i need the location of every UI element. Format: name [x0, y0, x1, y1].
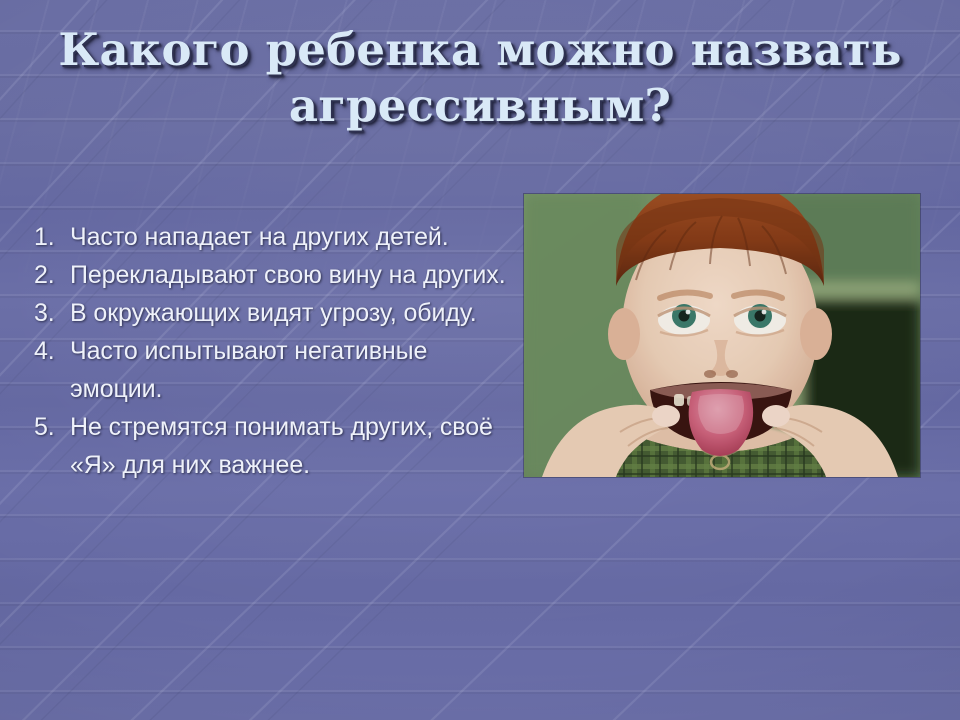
- list-item: 2. Перекладывают свою вину на других.: [30, 256, 510, 294]
- list-item: 4. Часто испытывают негативные эмоции.: [30, 332, 510, 408]
- list-item-text: В окружающих видят угрозу, обиду.: [70, 299, 477, 327]
- list-item-number: 4.: [34, 332, 64, 370]
- list-item: 5. Не стремятся понимать других, своё «Я…: [30, 408, 510, 484]
- slide-photo: [524, 194, 920, 477]
- list-item-number: 2.: [34, 256, 64, 294]
- list-item-text: Часто испытывают негативные эмоции.: [70, 337, 427, 403]
- list-item: 3. В окружающих видят угрозу, обиду.: [30, 294, 510, 332]
- list-item-number: 3.: [34, 294, 64, 332]
- bullet-list: 1. Часто нападает на других детей. 2. Пе…: [30, 218, 510, 484]
- presentation-slide: Какого ребенка можно назвать агрессивным…: [0, 0, 960, 720]
- list-item-number: 1.: [34, 218, 64, 256]
- list-item-number: 5.: [34, 408, 64, 446]
- list-item-text: Перекладывают свою вину на других.: [70, 261, 506, 289]
- list-item: 1. Часто нападает на других детей.: [30, 218, 510, 256]
- list-item-text: Часто нападает на других детей.: [70, 223, 449, 251]
- list-item-text: Не стремятся понимать других, своё «Я» д…: [70, 413, 493, 479]
- slide-title: Какого ребенка можно назвать агрессивным…: [0, 22, 960, 134]
